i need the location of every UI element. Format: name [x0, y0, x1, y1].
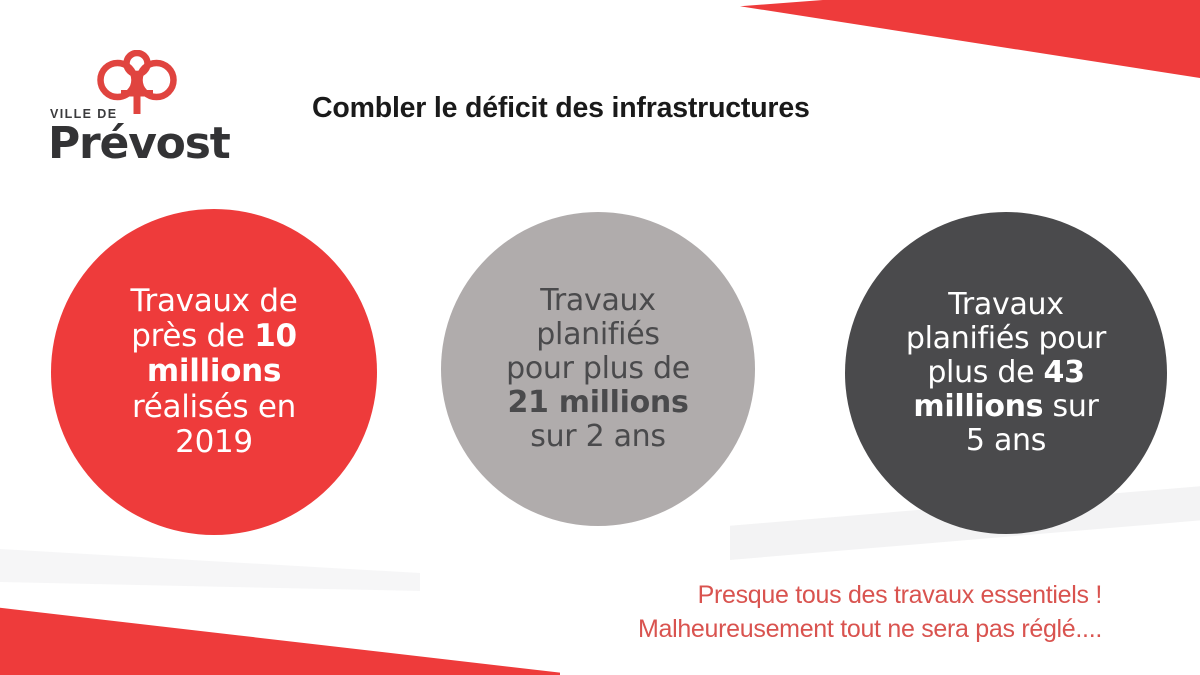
top-right-red-wedge	[740, 0, 1200, 78]
logo-wordmark: VILLE DE Prévost	[46, 108, 226, 167]
footer-note-line-2: Malheureusement tout ne sera pas réglé..…	[0, 612, 1102, 646]
page-title: Combler le déficit des infrastructures	[312, 92, 810, 125]
footer-note-line-1: Presque tous des travaux essentiels !	[0, 578, 1102, 612]
logo-prevost-text: Prévost	[48, 121, 226, 168]
footer-note: Presque tous des travaux essentiels ! Ma…	[0, 578, 1102, 646]
stat-circle-planned-5-years: Travauxplanifiés pourplus de 43millions …	[845, 212, 1167, 534]
stat-circle-2-text: Travauxplanifiéspour plus de21 millionss…	[463, 284, 733, 455]
tree-icon	[90, 50, 184, 114]
stat-circle-planned-2-years: Travauxplanifiéspour plus de21 millionss…	[441, 212, 755, 526]
stat-circle-3-text: Travauxplanifiés pourplus de 43millions …	[868, 288, 1145, 459]
stat-circle-completed-2019: Travaux deprès de 10millionsréalisés en2…	[51, 209, 377, 535]
slide-canvas: VILLE DE Prévost Combler le déficit des …	[0, 0, 1200, 675]
stat-circle-1-text: Travaux deprès de 10millionsréalisés en2…	[74, 284, 354, 461]
ville-de-prevost-logo: VILLE DE Prévost	[46, 50, 226, 168]
